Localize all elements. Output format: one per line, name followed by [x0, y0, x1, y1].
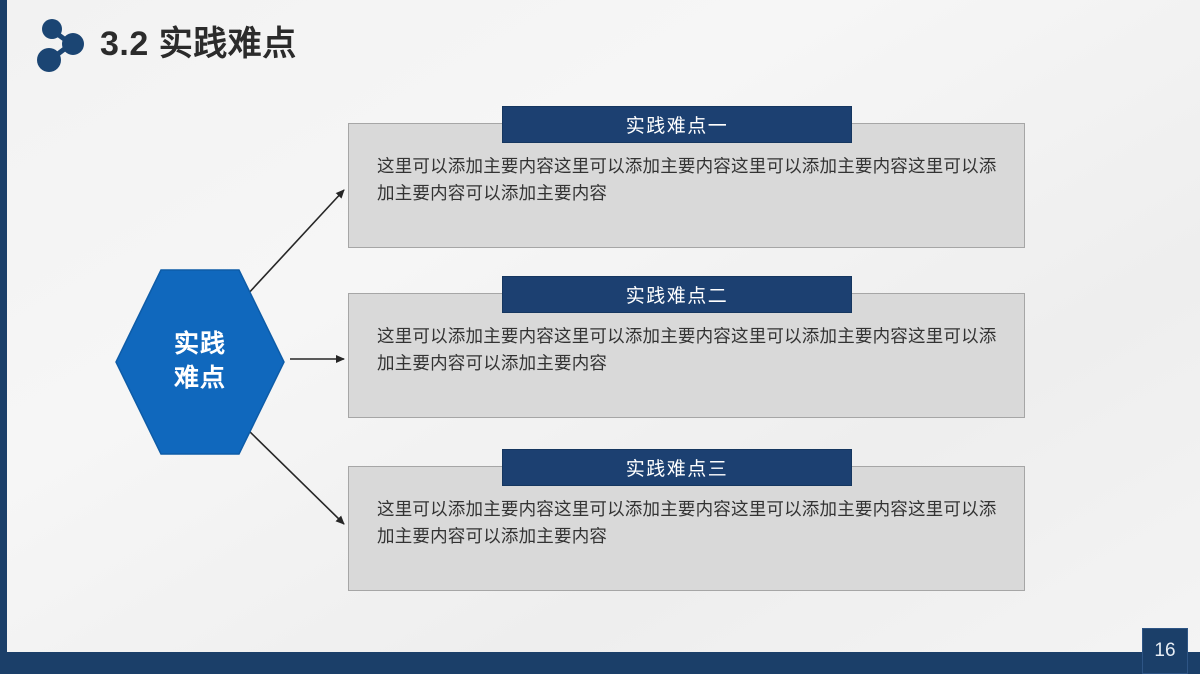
slide-title-row: 3.2 实践难点	[30, 14, 297, 74]
row-header-2[interactable]: 实践难点二	[502, 276, 852, 313]
row-header-1[interactable]: 实践难点一	[502, 106, 852, 143]
left-edge-accent	[0, 0, 7, 674]
content-row-1: 实践难点一 这里可以添加主要内容这里可以添加主要内容这里可以添加主要内容这里可以…	[348, 106, 1028, 251]
footer-bar	[0, 652, 1200, 674]
content-row-2: 实践难点二 这里可以添加主要内容这里可以添加主要内容这里可以添加主要内容这里可以…	[348, 276, 1028, 421]
share-network-icon	[30, 14, 94, 74]
hexagon-shape	[114, 268, 286, 456]
row-body-2: 这里可以添加主要内容这里可以添加主要内容这里可以添加主要内容这里可以添加主要内容…	[377, 323, 997, 377]
row-header-3[interactable]: 实践难点三	[502, 449, 852, 486]
hexagon-node[interactable]: 实践 难点	[114, 268, 286, 456]
content-row-3: 实践难点三 这里可以添加主要内容这里可以添加主要内容这里可以添加主要内容这里可以…	[348, 449, 1028, 594]
slide-canvas: 3.2 实践难点 实践 难点 实践难点一 这里可以添加主要内容这里可以添加主要内…	[0, 0, 1200, 674]
row-body-1: 这里可以添加主要内容这里可以添加主要内容这里可以添加主要内容这里可以添加主要内容…	[377, 153, 997, 207]
page-title: 3.2 实践难点	[100, 27, 297, 61]
page-number-badge: 16	[1142, 628, 1188, 674]
row-body-3: 这里可以添加主要内容这里可以添加主要内容这里可以添加主要内容这里可以添加主要内容…	[377, 496, 997, 550]
